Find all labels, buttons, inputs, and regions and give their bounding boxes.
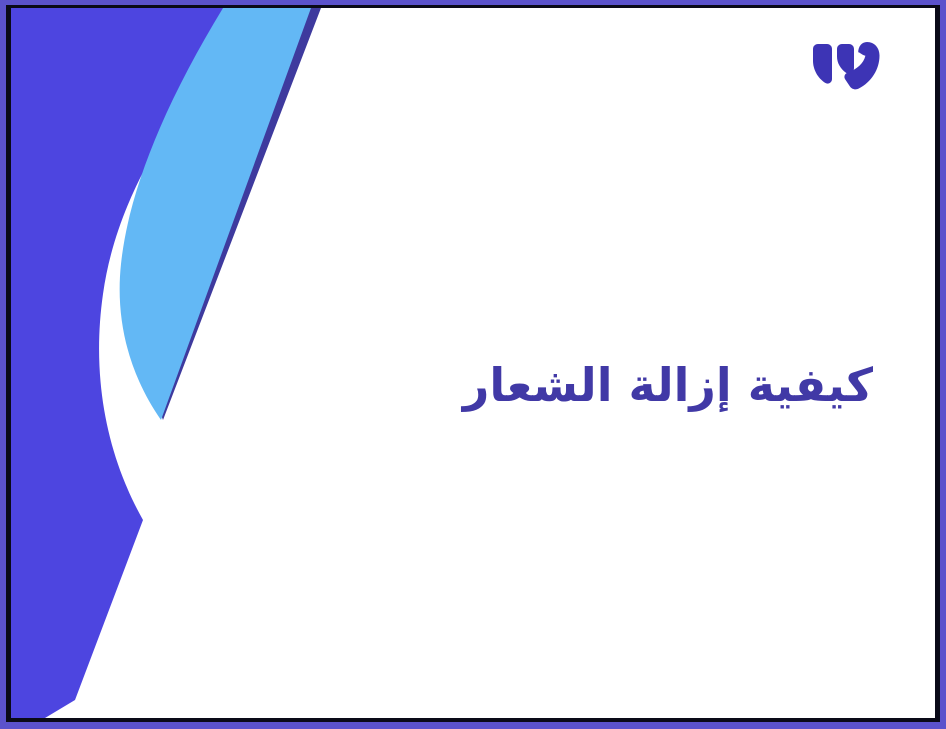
slide-canvas: كيفية إزالة الشعار	[11, 8, 935, 718]
w-comma-logo-icon	[813, 42, 880, 89]
slide-frame: كيفية إزالة الشعار	[0, 0, 946, 729]
page-title: كيفية إزالة الشعار	[273, 357, 873, 415]
brand-logo	[809, 38, 883, 100]
blue-angled-panel-shape	[11, 8, 243, 718]
